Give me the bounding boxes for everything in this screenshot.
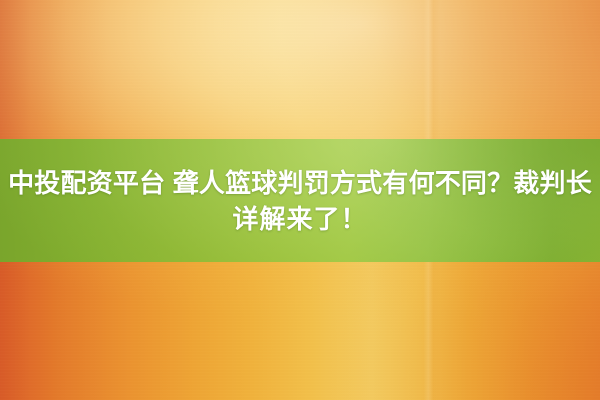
banner-title-line-1: 中投配资平台 聋人篮球判罚方式有何不同？裁判长 — [6, 165, 594, 201]
promo-banner: 中投配资平台 聋人篮球判罚方式有何不同？裁判长 详解来了！ — [0, 0, 600, 400]
banner-title-line-2: 详解来了！ — [6, 201, 594, 237]
banner-title-block: 中投配资平台 聋人篮球判罚方式有何不同？裁判长 详解来了！ — [0, 139, 600, 262]
